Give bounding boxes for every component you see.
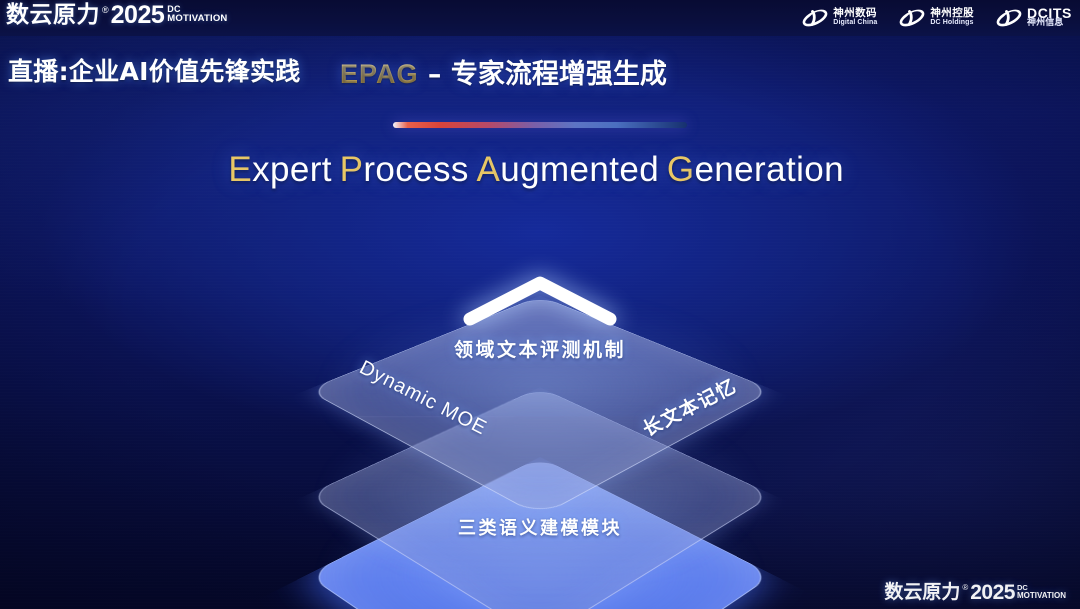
swirl-logo-icon bbox=[802, 7, 828, 29]
brand-logo-top: 数云原力 ® 2025 DC MOTIVATION bbox=[6, 2, 228, 28]
partner-logo-group: 神州数码 Digital China 神州控股 DC Holdings bbox=[802, 4, 1072, 32]
english-word-4-rest: eneration bbox=[694, 150, 844, 189]
layer-bottom-label: 三类语义建模模块 bbox=[458, 514, 622, 540]
page-title: EPAG – 专家流程增强生成 bbox=[340, 52, 667, 91]
live-stream-title: 直播:企业AI价值先锋实践 bbox=[8, 52, 301, 88]
logo-digital-china: 神州数码 Digital China bbox=[802, 7, 877, 29]
english-word-2: Process bbox=[340, 150, 469, 189]
logo-dc-holdings: 神州控股 DC Holdings bbox=[899, 7, 974, 29]
footer-brand-watermark: 数云原力 ® 2025 DC MOTIVATION bbox=[884, 582, 1066, 603]
footer-brand-dc-motivation: DC MOTIVATION bbox=[1017, 584, 1066, 600]
logo-text-block: 神州控股 DC Holdings bbox=[930, 8, 974, 28]
english-word-1-rest: xpert bbox=[252, 150, 332, 189]
layer-top-label: 领域文本评测机制 bbox=[454, 335, 626, 362]
english-word-1: Expert bbox=[228, 150, 332, 189]
brand-registered-mark: ® bbox=[102, 4, 109, 16]
footer-brand-name-cn: 数云原力 bbox=[884, 582, 960, 603]
footer-brand-motivation-text: MOTIVATION bbox=[1017, 592, 1066, 600]
footer-brand-year: 2025 bbox=[970, 582, 1015, 603]
english-word-3: Augmented bbox=[477, 150, 660, 189]
english-subtitle: ExpertProcessAugmentedGeneration bbox=[0, 150, 1080, 190]
logo-primary-text: 神州数码 bbox=[833, 8, 877, 18]
brand-name-cn: 数云原力 bbox=[6, 2, 100, 28]
logo-dcits: DCITS 神州信息 bbox=[996, 7, 1072, 29]
swirl-logo-icon bbox=[996, 7, 1022, 29]
english-word-3-initial: A bbox=[477, 150, 501, 189]
english-word-4-initial: G bbox=[667, 150, 695, 189]
gradient-divider bbox=[393, 122, 687, 128]
logo-secondary-text: Digital China bbox=[833, 18, 877, 28]
chevron-up-icon bbox=[462, 271, 618, 327]
english-word-2-initial: P bbox=[340, 150, 364, 189]
swirl-logo-icon bbox=[899, 7, 925, 29]
headline-separator: – bbox=[419, 59, 451, 90]
headline-chinese: 专家流程增强生成 bbox=[451, 59, 667, 90]
headline-acronym: EPAG bbox=[340, 59, 419, 89]
brand-motivation-text: MOTIVATION bbox=[167, 14, 227, 23]
logo-secondary-text: 神州信息 bbox=[1027, 18, 1072, 28]
brand-dc-motivation: DC MOTIVATION bbox=[167, 5, 227, 23]
layered-architecture-diagram: 领域文本评测机制 Dynamic MOE 长文本记忆 三类语义建模模块 bbox=[255, 215, 825, 585]
logo-text-block: 神州数码 Digital China bbox=[833, 8, 877, 28]
english-word-2-rest: rocess bbox=[363, 150, 469, 189]
english-word-1-initial: E bbox=[228, 150, 252, 189]
slide-canvas: 数云原力 ® 2025 DC MOTIVATION 神州数码 Digital C… bbox=[0, 0, 1080, 609]
logo-secondary-text: DC Holdings bbox=[930, 18, 974, 28]
english-word-3-rest: ugmented bbox=[500, 150, 659, 189]
english-word-4: Generation bbox=[667, 150, 844, 189]
logo-primary-text: 神州控股 bbox=[930, 8, 974, 18]
footer-brand-registered-mark: ® bbox=[962, 583, 968, 593]
logo-text-block: DCITS 神州信息 bbox=[1027, 8, 1072, 28]
brand-year: 2025 bbox=[111, 2, 165, 28]
logo-primary-text: DCITS bbox=[1027, 8, 1072, 18]
